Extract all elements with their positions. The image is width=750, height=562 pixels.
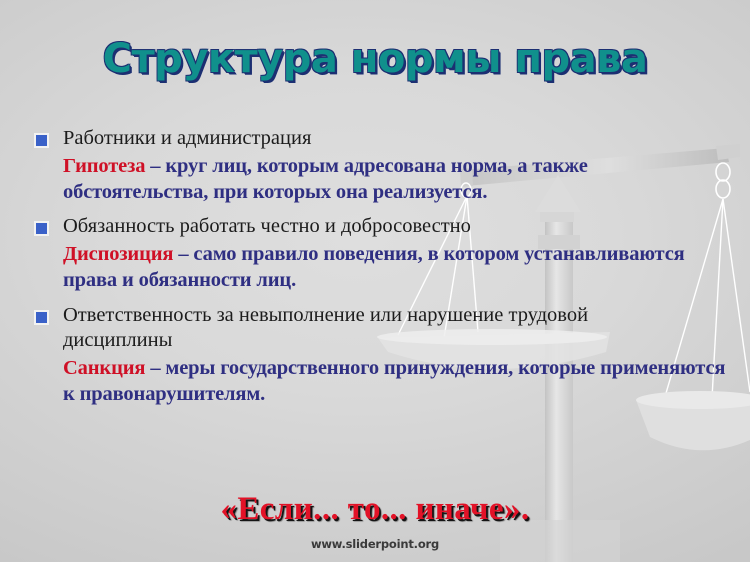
square-bullet-icon (36, 223, 47, 234)
title-container: Структура нормы права (0, 38, 750, 80)
definition-term: Гипотеза (63, 155, 145, 177)
square-bullet-icon (36, 135, 47, 146)
page-title: Структура нормы права (103, 38, 648, 80)
square-bullet-icon (36, 312, 47, 323)
slide-content: Работники и администрация Гипотеза – кру… (0, 126, 750, 408)
definition-term: Диспозиция (63, 243, 173, 265)
source-watermark: www.sliderpoint.org (0, 537, 750, 551)
definition-term: Санкция (63, 357, 145, 379)
definition-text: Гипотеза – круг лиц, которым адресована … (0, 153, 750, 205)
definition-text: Санкция – меры государственного принужде… (0, 355, 750, 407)
bullet-item-label: Работники и администрация (63, 126, 311, 151)
definition-body: – меры государственного принуждения, кот… (63, 357, 725, 405)
definition-text: Диспозиция – само правило поведения, в к… (0, 241, 750, 293)
conclusion-container: «Если... то... иначе». (0, 492, 750, 527)
presentation-slide: Структура нормы права Работники и админи… (0, 0, 750, 562)
conclusion-text: «Если... то... иначе». (221, 492, 530, 527)
content-block-hypothesis: Работники и администрация Гипотеза – кру… (0, 126, 750, 205)
bullet-item: Обязанность работать честно и добросовес… (0, 214, 750, 239)
block-spacer (0, 294, 750, 303)
bullet-item-label: Ответственность за невыполнение или нару… (63, 303, 663, 353)
bullet-item-label: Обязанность работать честно и добросовес… (63, 214, 471, 239)
content-block-sanction: Ответственность за невыполнение или нару… (0, 303, 750, 407)
block-spacer (0, 206, 750, 214)
content-block-disposition: Обязанность работать честно и добросовес… (0, 214, 750, 293)
bullet-item: Работники и администрация (0, 126, 750, 151)
bullet-item: Ответственность за невыполнение или нару… (0, 303, 750, 353)
